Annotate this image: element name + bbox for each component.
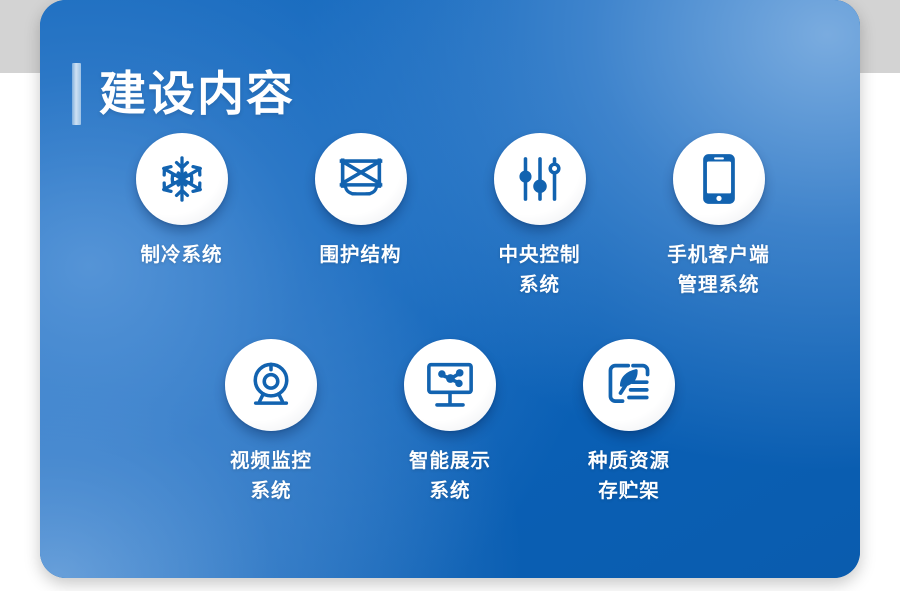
item-label: 视频监控 系统	[230, 446, 312, 505]
icon-circle[interactable]	[315, 133, 407, 225]
icon-circle[interactable]	[583, 339, 675, 431]
grid-item-germplasm-rack[interactable]: 种质资源 存贮架	[540, 339, 719, 505]
icon-circle[interactable]	[136, 133, 228, 225]
leaf-storage-rack-icon	[604, 360, 654, 410]
title-accent-bar	[72, 63, 81, 125]
icon-circle[interactable]	[404, 339, 496, 431]
item-label: 种质资源 存贮架	[588, 446, 670, 505]
icon-row-1: 制冷系统 围护结构	[40, 133, 860, 299]
grid-item-envelope-structure[interactable]: 围护结构	[271, 133, 450, 299]
icon-circle[interactable]	[494, 133, 586, 225]
item-label: 智能展示 系统	[409, 446, 491, 505]
page-title: 建设内容	[99, 71, 295, 118]
item-label: 围护结构	[319, 240, 401, 270]
grid-item-refrigeration[interactable]: 制冷系统	[92, 133, 271, 299]
page-header: 建设内容	[72, 58, 295, 130]
smartphone-icon	[701, 152, 737, 206]
grid-item-mobile-client[interactable]: 手机客户端 管理系统	[629, 133, 808, 299]
webcam-icon	[246, 360, 296, 410]
grid-item-video-surveillance[interactable]: 视频监控 系统	[182, 339, 361, 505]
truss-frame-icon	[336, 156, 386, 202]
icon-circle[interactable]	[225, 339, 317, 431]
monitor-network-icon	[424, 361, 476, 409]
item-label: 手机客户端 管理系统	[667, 240, 770, 299]
icon-row-2: 视频监控 系统	[40, 339, 860, 505]
item-label: 制冷系统	[140, 240, 222, 270]
sliders-icon	[516, 154, 564, 204]
grid-item-central-control[interactable]: 中央控制 系统	[450, 133, 629, 299]
snowflake-icon	[157, 154, 207, 204]
content-panel: 建设内容	[40, 0, 860, 578]
grid-item-smart-display[interactable]: 智能展示 系统	[361, 339, 540, 505]
item-label: 中央控制 系统	[498, 240, 580, 299]
icon-circle[interactable]	[673, 133, 765, 225]
